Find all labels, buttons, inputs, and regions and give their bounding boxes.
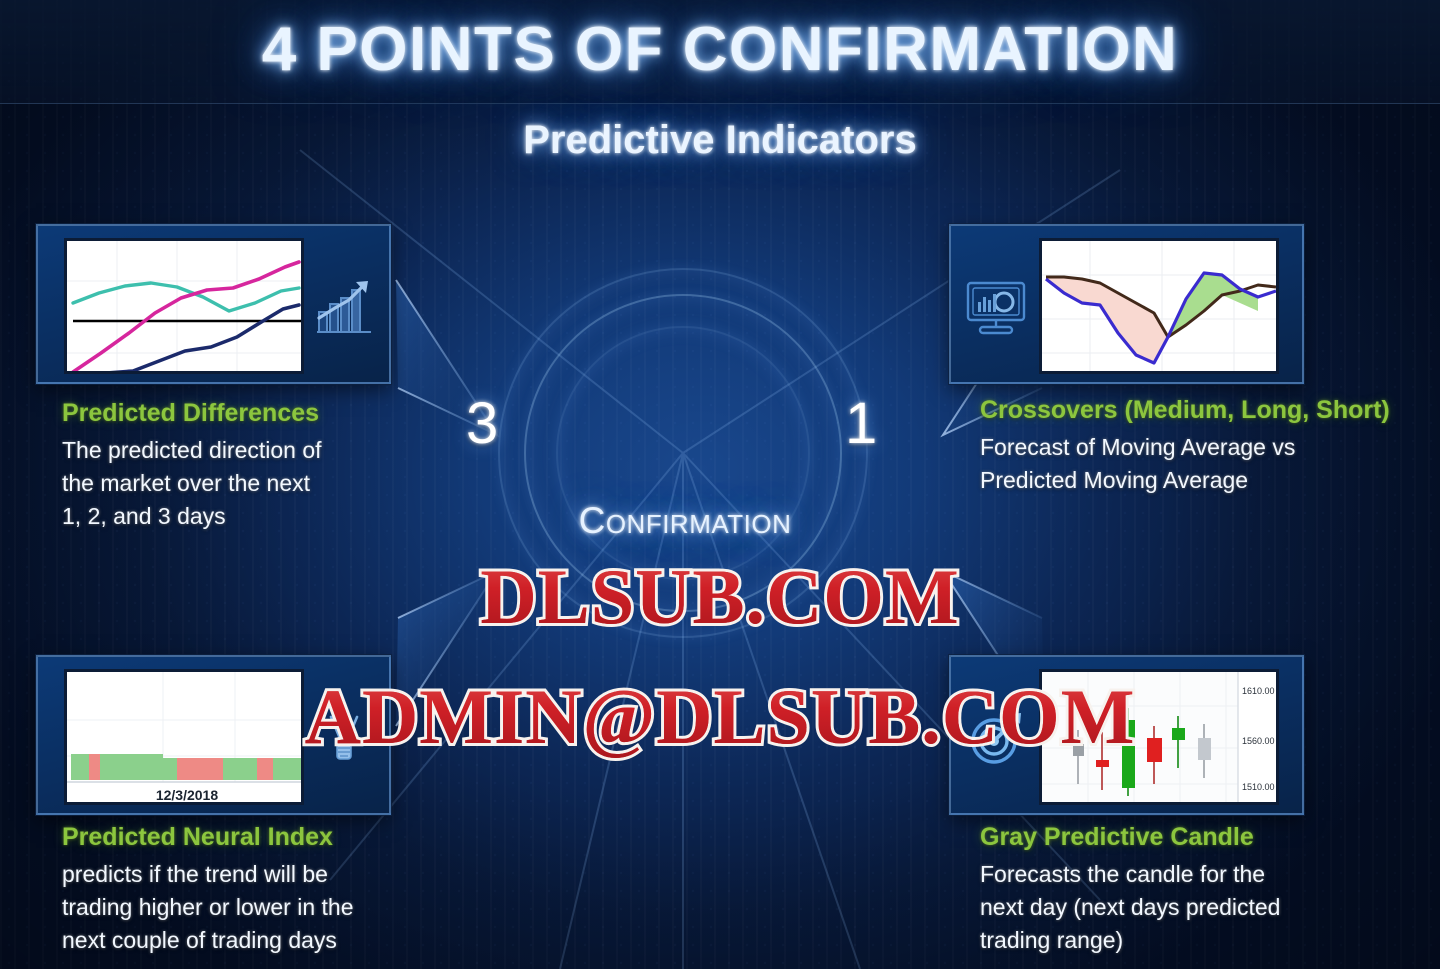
- page-subtitle: Predictive Indicators: [0, 118, 1440, 163]
- center-confirmation-label: Confirmation: [470, 500, 900, 542]
- chart-predicted-differences: [64, 238, 304, 374]
- page-title: 4 POINTS OF CONFIRMATION: [0, 14, 1440, 85]
- watermark-site: DLSUB.COM: [0, 552, 1440, 642]
- card-predicted-differences[interactable]: [36, 224, 391, 384]
- price-tick: 1510.00: [1242, 782, 1275, 792]
- caption-line: trading range): [980, 924, 1440, 957]
- caption-crossovers: Crossovers (Medium, Long, Short) Forecas…: [980, 396, 1440, 497]
- caption-line: predicts if the trend will be: [62, 858, 532, 891]
- caption-line: 1, 2, and 3 days: [62, 500, 532, 533]
- caption-gray-predictive-candle: Gray Predictive Candle Forecasts the can…: [980, 823, 1440, 957]
- caption-body: The predicted direction of the market ov…: [62, 434, 532, 533]
- caption-line: next day (next days predicted: [980, 891, 1440, 924]
- caption-line: The predicted direction of: [62, 434, 532, 467]
- quadrant-number-1: 1: [845, 390, 877, 457]
- caption-body: Forecasts the candle for the next day (n…: [980, 858, 1440, 957]
- caption-line: Forecast of Moving Average vs: [980, 431, 1440, 464]
- caption-title: Predicted Neural Index: [62, 823, 532, 852]
- caption-line: Predicted Moving Average: [980, 464, 1440, 497]
- caption-body: Forecast of Moving Average vs Predicted …: [980, 431, 1440, 497]
- watermark-email: ADMIN@DLSUB.COM: [0, 672, 1440, 762]
- caption-line: next couple of trading days: [62, 924, 532, 957]
- bar-chart-growth-icon: [311, 274, 377, 340]
- caption-title: Gray Predictive Candle: [980, 823, 1440, 852]
- caption-line: Forecasts the candle for the: [980, 858, 1440, 891]
- caption-line: trading higher or lower in the: [62, 891, 532, 924]
- caption-title: Predicted Differences: [62, 399, 532, 428]
- caption-title: Crossovers (Medium, Long, Short): [980, 396, 1440, 425]
- caption-body: predicts if the trend will be trading hi…: [62, 858, 532, 957]
- card-crossovers[interactable]: [949, 224, 1304, 384]
- monitor-analytics-icon: [963, 274, 1029, 340]
- caption-predicted-differences: Predicted Differences The predicted dire…: [62, 399, 532, 533]
- caption-line: the market over the next: [62, 467, 532, 500]
- chart-crossovers: [1039, 238, 1279, 374]
- caption-predicted-neural-index: Predicted Neural Index predicts if the t…: [62, 823, 532, 957]
- chart-date-label: 12/3/2018: [156, 787, 218, 803]
